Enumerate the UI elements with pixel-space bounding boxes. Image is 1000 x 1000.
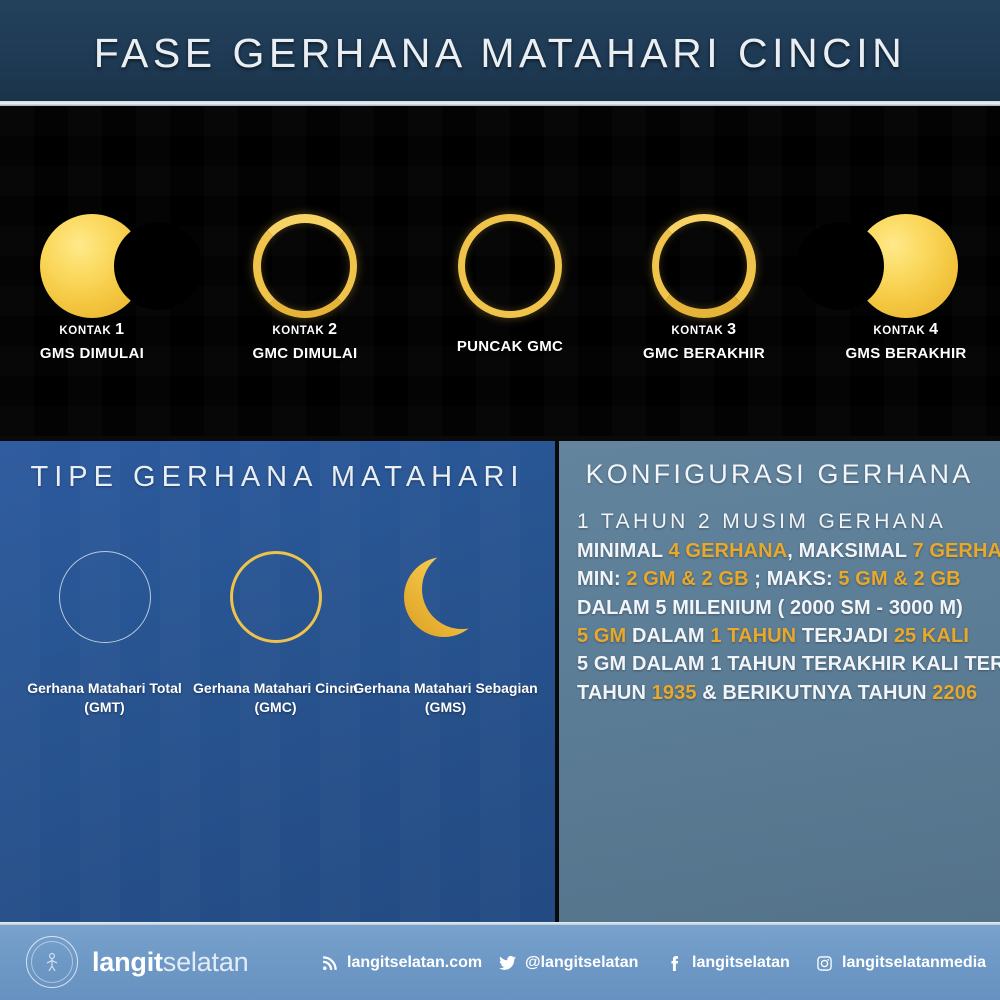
phase-contact-label: KONTAK 4 — [806, 321, 1000, 339]
sun-bitten-right-icon — [40, 214, 144, 318]
plain-text: TAHUN — [577, 682, 652, 704]
phase-item: KONTAK 2 GMC DIMULAI — [205, 106, 405, 436]
highlight-text: 25 KALI — [894, 625, 969, 647]
config-line: 5 GM DALAM 1 TAHUN TERAKHIR KALI TERJADI — [577, 650, 992, 678]
phase-name-label: GMC DIMULAI — [205, 345, 405, 362]
configuration-lines: 1 TAHUN 2 MUSIM GERHANAMINIMAL 4 GERHANA… — [577, 507, 992, 707]
phase-caption: KONTAK 2 GMC DIMULAI — [205, 321, 405, 362]
plain-text: MIN: — [577, 568, 626, 590]
eclipse-type-label: Gerhana Matahari Sebagian (GMS) — [350, 679, 541, 717]
footer-link-twitter[interactable]: @langitselatan — [498, 954, 638, 972]
phase-contact-label: KONTAK 2 — [205, 321, 405, 339]
eclipse-type-label: Gerhana Matahari Total (GMT) — [9, 679, 200, 717]
phase-name-label: PUNCAK GMC — [410, 338, 610, 355]
config-line: TAHUN 1935 & BERIKUTNYA TAHUN 2206 — [577, 679, 992, 707]
phase-name-label: GMS BERAKHIR — [806, 345, 1000, 362]
phase-name-label: GMS DIMULAI — [0, 345, 192, 362]
plain-text: , MAKSIMAL — [787, 540, 912, 562]
plain-text: 1 TAHUN 2 MUSIM GERHANA — [577, 510, 946, 533]
seal-emblem-icon — [39, 949, 65, 975]
footer-link-label: langitselatanmedia — [842, 954, 986, 972]
phase-caption: PUNCAK GMC — [410, 338, 610, 355]
plain-text: & BERIKUTNYA TAHUN — [697, 682, 933, 704]
phase-item: KONTAK 1 GMS DIMULAI — [0, 106, 192, 436]
phase-contact-label: KONTAK 1 — [0, 321, 192, 339]
highlight-text: 5 GM & 2 GB — [838, 568, 960, 590]
highlight-text: 2206 — [932, 682, 977, 704]
thin-circle-icon — [59, 551, 151, 643]
annular-ring-icon — [458, 214, 562, 318]
plain-text: 5 GM DALAM 1 TAHUN TERAKHIR KALI TERJADI — [577, 653, 1000, 675]
footer-link-facebook[interactable]: langitselatan — [665, 954, 790, 972]
phase-item: PUNCAK GMC — [410, 106, 610, 436]
page-title: FASE GERHANA MATAHARI CINCIN — [0, 30, 1000, 77]
annular-ring-icon — [652, 214, 756, 318]
highlight-text: 5 GM — [577, 625, 626, 647]
config-line: 1 TAHUN 2 MUSIM GERHANA — [577, 507, 992, 537]
plain-text: DALAM 5 MILENIUM ( 2000 SM - 3000 M) — [577, 597, 963, 619]
config-line: MINIMAL 4 GERHANA, MAKSIMAL 7 GERHANA — [577, 537, 992, 565]
phase-caption: KONTAK 1 GMS DIMULAI — [0, 321, 192, 362]
left-panel-title: TIPE GERHANA MATAHARI — [0, 461, 555, 494]
config-line: MIN: 2 GM & 2 GB ; MAKS: 5 GM & 2 GB — [577, 565, 992, 593]
gold-crescent-icon — [400, 551, 492, 643]
eclipse-types-panel: TIPE GERHANA MATAHARI Gerhana Matahari T… — [0, 441, 555, 922]
highlight-text: 1935 — [652, 682, 697, 704]
langitselatan-seal-logo — [26, 936, 78, 988]
highlight-text: 1 TAHUN — [710, 625, 796, 647]
plain-text: MINIMAL — [577, 540, 669, 562]
phase-contact-label: KONTAK 3 — [604, 321, 804, 339]
annular-ring-icon — [253, 214, 357, 318]
right-panel-title: KONFIGURASI GERHANA — [559, 459, 1000, 490]
sun-bitten-left-icon — [854, 214, 958, 318]
facebook-icon — [665, 954, 683, 972]
instagram-icon — [815, 954, 833, 972]
header-banner: FASE GERHANA MATAHARI CINCIN — [0, 0, 1000, 106]
phase-item: KONTAK 3 GMC BERAKHIR — [604, 106, 804, 436]
footer-link-instagram[interactable]: langitselatanmedia — [815, 954, 986, 972]
footer-link-label: langitselatan.com — [347, 954, 482, 972]
eclipse-configuration-panel: KONFIGURASI GERHANA 1 TAHUN 2 MUSIM GERH… — [559, 441, 1000, 922]
config-line: 5 GM DALAM 1 TAHUN TERJADI 25 KALI — [577, 622, 992, 650]
rss-icon — [320, 954, 338, 972]
plain-text: DALAM — [626, 625, 710, 647]
plain-text: ; MAKS: — [749, 568, 839, 590]
eclipse-type-label: Gerhana Matahari Cincin (GMC) — [180, 679, 371, 717]
footer-link-website[interactable]: langitselatan.com — [320, 954, 482, 972]
phase-caption: KONTAK 3 GMC BERAKHIR — [604, 321, 804, 362]
phase-caption: KONTAK 4 GMS BERAKHIR — [806, 321, 1000, 362]
footer-bar: langitselatan langitselatan.com @langits… — [0, 922, 1000, 1000]
footer-link-label: @langitselatan — [525, 954, 638, 972]
twitter-icon — [498, 954, 516, 972]
phase-item: KONTAK 4 GMS BERAKHIR — [806, 106, 1000, 436]
gold-ring-icon — [230, 551, 322, 643]
highlight-text: 4 GERHANA — [669, 540, 788, 562]
highlight-text: 2 GM & 2 GB — [626, 568, 748, 590]
plain-text: TERJADI — [796, 625, 894, 647]
config-line: DALAM 5 MILENIUM ( 2000 SM - 3000 M) — [577, 594, 992, 622]
brand-wordmark: langitselatan — [92, 947, 248, 978]
phase-name-label: GMC BERAKHIR — [604, 345, 804, 362]
footer-link-label: langitselatan — [692, 954, 790, 972]
infographic-root: FASE GERHANA MATAHARI CINCIN KONTAK 1 GM… — [0, 0, 1000, 1000]
eclipse-phases-strip: KONTAK 1 GMS DIMULAI KONTAK 2 GMC DIMULA… — [0, 106, 1000, 436]
highlight-text: 7 GERHANA — [912, 540, 1000, 562]
